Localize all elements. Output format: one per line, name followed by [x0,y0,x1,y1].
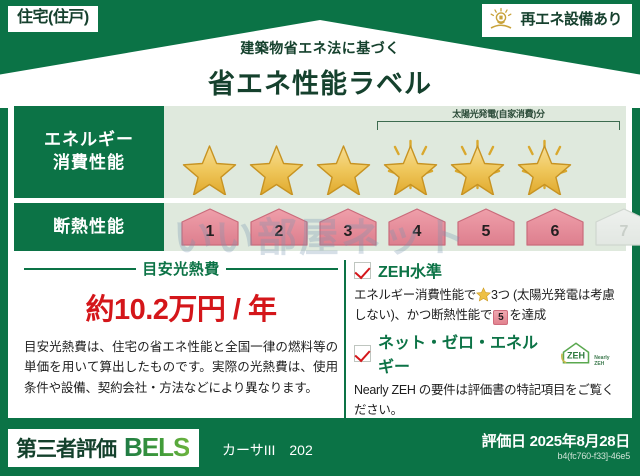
star-icon [379,133,442,195]
energy-label-line2: 消費性能 [53,152,125,175]
net-zero-energy-body: Nearly ZEH の要件は評価書の特記項目をご覧ください。 [354,380,618,420]
solar-bracket-label: 太陽光発電(自家消費)分 [377,107,620,120]
insulation-level-5: 5 [454,207,518,248]
energy-performance-row: エネルギー 消費性能 太陽光発電(自家消費)分 [14,106,626,198]
star-icon [245,133,308,195]
net-zero-energy-checkbox[interactable] [354,345,371,362]
zeh-body-post: を達成 [509,308,546,322]
zeh-standard-checkbox[interactable] [354,262,371,279]
utility-cost-note: 目安光熱費は、住宅の省エネ性能と全国一律の燃料等の単価を用いて算出したものです。… [24,337,338,398]
net-zero-energy-title: ネット・ゼロ・エネルギー [378,329,549,377]
insulation-performance-row: 断熱性能 1 2 3 [14,203,626,251]
details-columns: 目安光熱費 約10.2万円 / 年 目安光熱費は、住宅の省エネ性能と全国一律の燃… [14,258,626,424]
zeh-standard-title: ZEH水準 [378,258,442,282]
insulation-level-2: 2 [247,207,311,248]
insulation-level-6: 6 [523,207,587,248]
solar-bracket-line [377,121,620,130]
utility-cost-heading-text: 目安光熱費 [142,258,220,279]
label-title-block: 建築物省エネ法に基づく 省エネ性能ラベル [0,38,640,101]
zeh-house-icon: ZEH [560,339,592,367]
insulation-level-value: 5 [454,223,518,241]
net-zero-energy-item: ネット・ゼロ・エネルギー ZEH Nearly ZEH Nearly ZEH の… [354,329,618,420]
page-title: 省エネ性能ラベル [0,62,640,101]
sun-icon [488,7,514,33]
insulation-level-3: 3 [316,207,380,248]
cost-rule-right [226,268,338,270]
evaluation-id: b4(fc760-f33]-46e5 [558,451,630,461]
zeh-standard-item: ZEH水準 エネルギー消費性能で 3つ (太陽光発電は考慮しない)、かつ断熱性能… [354,258,618,325]
renewable-energy-badge-label: 再エネ設備あり [520,12,622,28]
solar-bracket: 太陽光発電(自家消費)分 [377,107,620,130]
zeh-logo: ZEH Nearly ZEH [560,339,618,367]
zeh-standard-head: ZEH水準 [354,258,618,282]
svg-text:ZEH: ZEH [567,351,585,361]
star-icon [312,133,375,195]
utility-cost-heading: 目安光熱費 [24,258,338,279]
insulation-level-7: 7 [592,207,640,248]
utility-cost-section: 目安光熱費 約10.2万円 / 年 目安光熱費は、住宅の省エネ性能と全国一律の燃… [14,258,344,424]
star-icon [513,133,576,195]
property-name: カーサIII 202 [222,440,313,460]
energy-performance-value: 太陽光発電(自家消費)分 [164,106,626,198]
bels-logo-text: BELS [124,432,189,463]
energy-star-rating [178,133,620,195]
zeh-standard-body: エネルギー消費性能で 3つ (太陽光発電は考慮しない)、かつ断熱性能で5を達成 [354,285,618,325]
column-divider [344,260,346,422]
insulation-label-text: 断熱性能 [53,216,125,239]
insulation-performance-value: 1 2 3 4 5 [164,203,626,251]
insulation-level-value: 2 [247,223,311,241]
evaluation-date: 評価日 2025年8月28日 [482,430,630,451]
insulation-level-1: 1 [178,207,242,248]
zeh-logo-sublabel: Nearly ZEH [594,356,618,367]
star-icon [476,287,491,302]
cost-rule-left [24,268,136,270]
energy-performance-label: 住宅(住戸) 再エネ設備あり 建築物省エネ法に基づく 省エネ性能ラベル [0,0,640,476]
insulation-level-scale: 1 2 3 4 5 [178,207,640,248]
energy-performance-label: エネルギー 消費性能 [14,106,164,198]
label-footer: 第三者評価 BELS カーサIII 202 評価日 2025年8月28日 b4(… [0,420,640,476]
house-type-badge: 住宅(住戸) [8,6,98,32]
star-icon [178,133,241,195]
star-icon [446,133,509,195]
renewable-energy-badge: 再エネ設備あり [482,4,632,37]
utility-cost-amount: 約10.2万円 / 年 [24,286,338,328]
zeh-section: ZEH水準 エネルギー消費性能で 3つ (太陽光発電は考慮しない)、かつ断熱性能… [354,258,626,424]
insulation-level-value: 3 [316,223,380,241]
insulation-level-value: 4 [385,223,449,241]
title-subtitle: 建築物省エネ法に基づく [0,38,640,58]
insulation-level-value: 6 [523,223,587,241]
label-body: エネルギー 消費性能 太陽光発電(自家消費)分 [8,100,632,418]
insulation-level-value: 7 [592,223,640,241]
energy-label-line1: エネルギー [44,129,134,152]
bels-jp-label: 第三者評価 [16,433,116,463]
insulation-level-chip: 5 [493,310,508,325]
bels-certification-badge: 第三者評価 BELS [8,429,199,467]
net-zero-energy-head: ネット・ゼロ・エネルギー ZEH Nearly ZEH [354,329,618,377]
insulation-level-4: 4 [385,207,449,248]
insulation-performance-label: 断熱性能 [14,203,164,251]
zeh-body-pre: エネルギー消費性能で [354,288,476,302]
insulation-level-value: 1 [178,223,242,241]
